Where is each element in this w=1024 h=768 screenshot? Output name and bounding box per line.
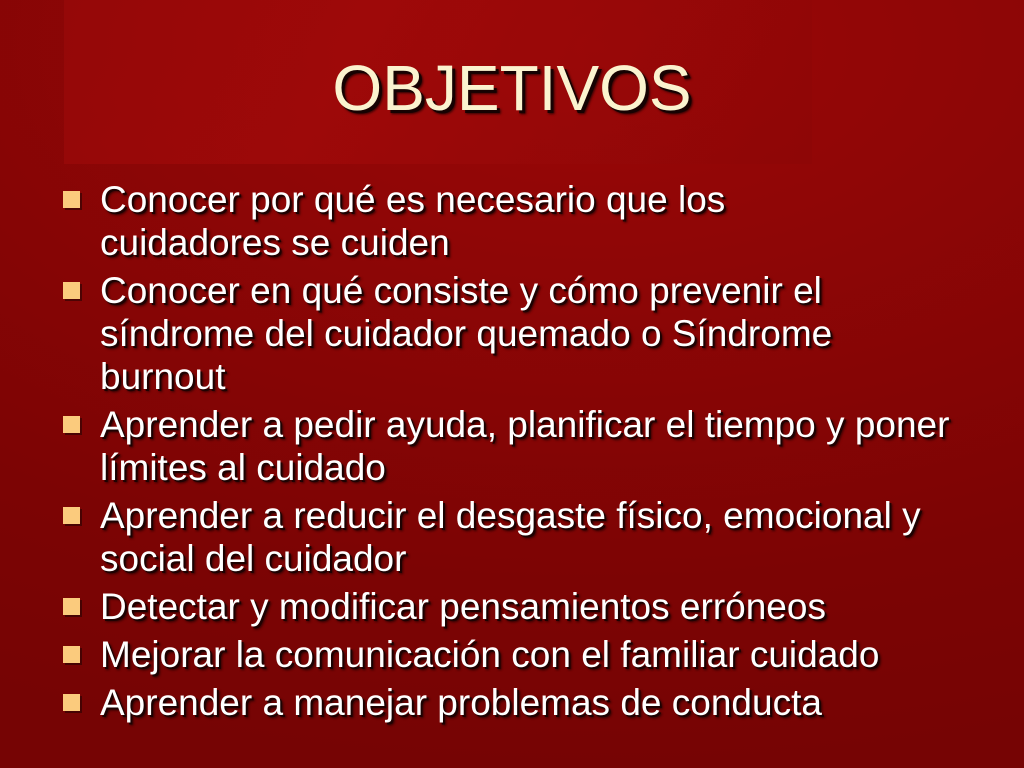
list-item-label: Aprender a reducir el desgaste físico, e…	[100, 494, 1010, 580]
list-item-label: Aprender a pedir ayuda, planificar el ti…	[100, 403, 980, 489]
list-item: Conocer por qué es necesario que los cui…	[54, 178, 820, 264]
bullet-square-icon	[63, 598, 80, 615]
bullet-square-icon	[63, 416, 80, 433]
list-item-label: Conocer por qué es necesario que los cui…	[100, 178, 820, 264]
list-item: Aprender a reducir el desgaste físico, e…	[54, 494, 1010, 580]
bullet-square-icon	[63, 694, 80, 711]
list-item: Conocer en qué consiste y cómo prevenir …	[54, 269, 955, 398]
bullet-square-icon	[63, 282, 80, 299]
slide-title: OBJETIVOS	[0, 52, 1024, 124]
list-item: Detectar y modificar pensamientos erróne…	[54, 585, 1024, 628]
presentation-slide: OBJETIVOS Conocer por qué es necesario q…	[0, 0, 1024, 768]
list-item: Aprender a pedir ayuda, planificar el ti…	[54, 403, 980, 489]
bullet-square-icon	[63, 646, 80, 663]
list-item: Mejorar la comunicación con el familiar …	[54, 633, 1024, 676]
list-item-label: Aprender a manejar problemas de conducta	[100, 681, 1024, 724]
list-item-label: Detectar y modificar pensamientos erróne…	[100, 585, 1024, 628]
bullet-square-icon	[63, 507, 80, 524]
bullet-square-icon	[63, 191, 80, 208]
list-item-label: Conocer en qué consiste y cómo prevenir …	[100, 269, 955, 398]
list-item-label: Mejorar la comunicación con el familiar …	[100, 633, 1024, 676]
list-item: Aprender a manejar problemas de conducta	[54, 681, 1024, 724]
bullet-list: Conocer por qué es necesario que los cui…	[54, 178, 1004, 729]
